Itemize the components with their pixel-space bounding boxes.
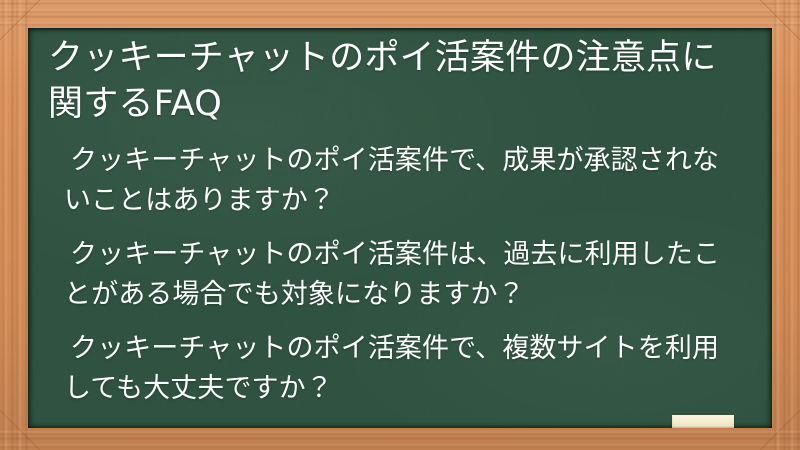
frame-rail-bottom [0, 428, 800, 450]
board-content: クッキーチャットのポイ活案件の注意点に関するFAQ クッキーチャットのポイ活案件… [28, 28, 772, 409]
chalkboard: クッキーチャットのポイ活案件の注意点に関するFAQ クッキーチャットのポイ活案件… [28, 28, 772, 428]
page-title: クッキーチャットのポイ活案件の注意点に関するFAQ [42, 36, 754, 127]
list-item: クッキーチャットのポイ活案件で、複数サイトを利用しても大丈夫ですか？ [64, 329, 744, 409]
list-item: クッキーチャットのポイ活案件は、過去に利用したことがある場合でも対象になりますか… [64, 235, 744, 315]
list-item: クッキーチャットのポイ活案件で、成果が承認されないことはありますか？ [64, 141, 744, 221]
frame-stile-right [772, 0, 800, 450]
frame-stile-left [0, 0, 28, 450]
frame-rail-top [0, 0, 800, 28]
faq-question-list: クッキーチャットのポイ活案件で、成果が承認されないことはありますか？ クッキーチ… [42, 141, 754, 409]
faq-slide: クッキーチャットのポイ活案件の注意点に関するFAQ クッキーチャットのポイ活案件… [0, 0, 800, 450]
chalk-stick-icon [672, 415, 734, 428]
